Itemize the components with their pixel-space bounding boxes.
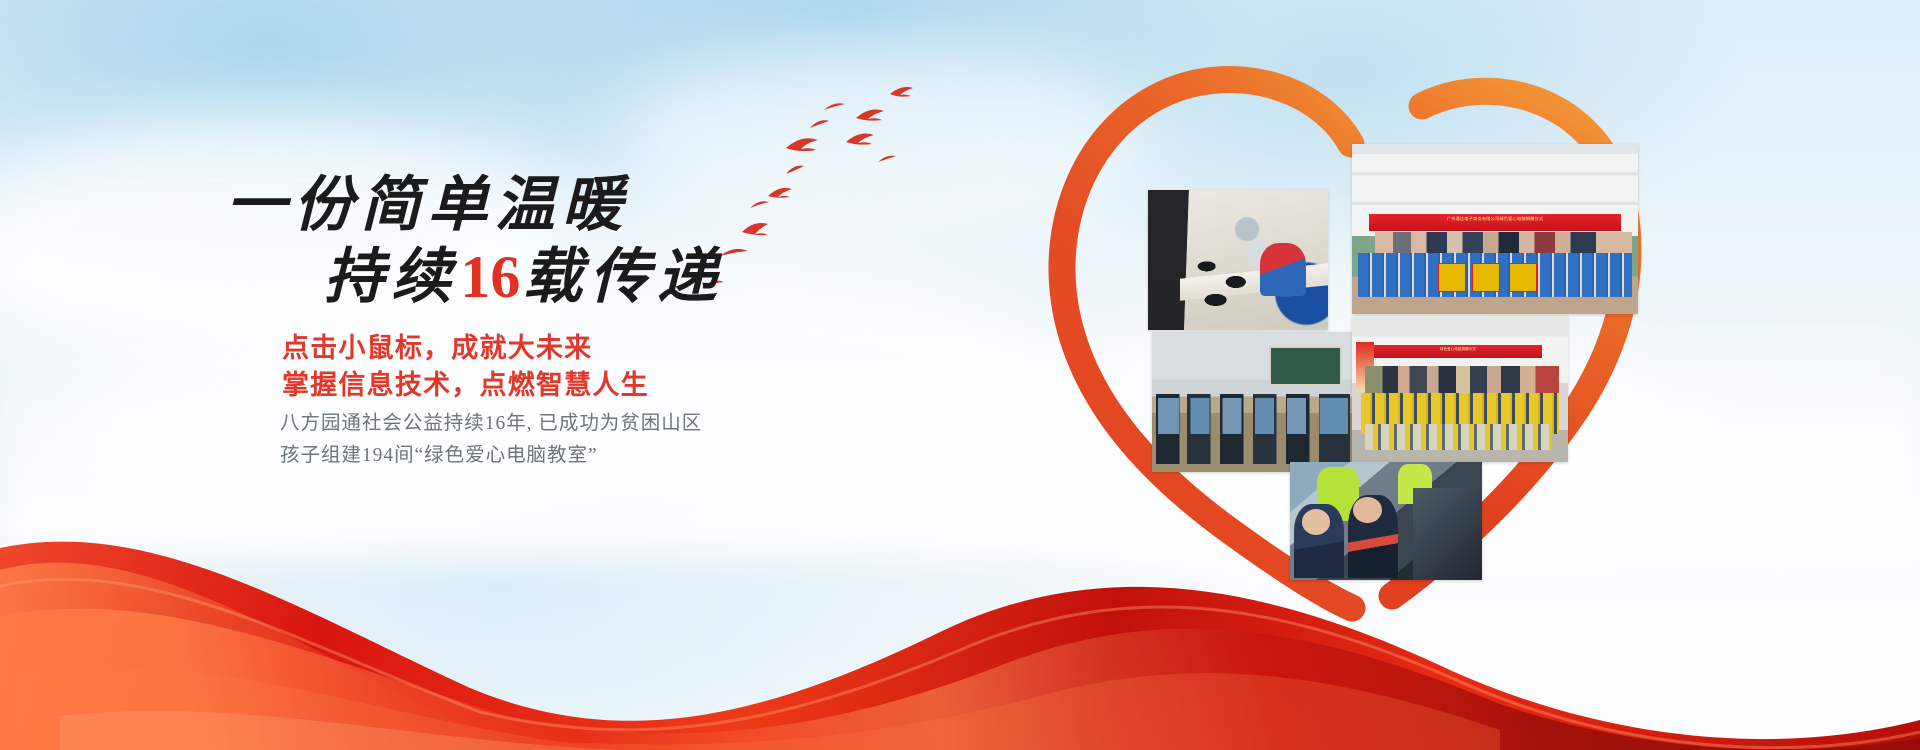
subtitle-line-1: 点击小鼠标，成就大未来 [282,330,649,367]
headline-years-number: 16 [458,244,522,310]
photo-classroom-row[interactable] [1148,190,1328,330]
photo-detail [1260,243,1307,296]
photo-detail [1365,424,1551,450]
photo-detail [1365,366,1559,395]
headline: 一份简单温暖 持续16载传递 [220,150,920,330]
photo-banner-text: 绿色爱心电脑捐赠仪式 [1374,345,1543,351]
photo-detail [1269,346,1342,386]
photo-image: 绿色爱心电脑捐赠仪式 [1352,316,1568,462]
photo-detail [1509,263,1537,292]
photo-banner: 绿色爱心电脑捐赠仪式 [1374,345,1543,358]
banner-stage: 广州通达电子商务有限公司绿色爱心电脑捐赠仪式 绿色爱心电脑捐赠仪式 [0,0,1920,750]
photo-detail [1472,263,1500,292]
photo-boys-monitor[interactable] [1290,462,1482,580]
text-block: 一份简单温暖 持续16载传递 点击小鼠标，成就大未来 掌握信息技术，点燃智慧人生… [220,150,920,330]
headline-line-2: 持续16载传递 [324,228,724,315]
photo-image [1148,190,1328,330]
description: 八方园通社会公益持续16年, 已成功为贫困山区 孩子组建194间“绿色爱心电脑教… [280,408,702,473]
subtitle-line-2: 掌握信息技术，点燃智慧人生 [282,367,649,404]
photo-image [1152,332,1354,472]
photo-banner: 广州通达电子商务有限公司绿色爱心电脑捐赠仪式 [1369,214,1621,231]
photo-image: 广州通达电子商务有限公司绿色爱心电脑捐赠仪式 [1352,144,1638,314]
photo-indoor-ceremony[interactable]: 绿色爱心电脑捐赠仪式 [1352,316,1568,462]
photo-detail [1438,263,1466,292]
subtitle: 点击小鼠标，成就大未来 掌握信息技术，点燃智慧人生 [282,330,649,405]
description-line-1: 八方园通社会公益持续16年, 已成功为贫困山区 [280,408,702,440]
photo-banner-text: 广州通达电子商务有限公司绿色爱心电脑捐赠仪式 [1369,214,1621,221]
headline-line-2-suffix: 载传递 [522,244,724,310]
photo-computer-lab[interactable] [1152,332,1354,472]
photo-image [1290,462,1482,580]
photo-detail [1158,398,1348,434]
headline-line-2-prefix: 持续 [324,244,458,310]
photo-school-donation[interactable]: 广州通达电子商务有限公司绿色爱心电脑捐赠仪式 [1352,144,1638,314]
description-line-2: 孩子组建194间“绿色爱心电脑教室” [280,440,702,472]
photo-detail [1413,488,1482,580]
